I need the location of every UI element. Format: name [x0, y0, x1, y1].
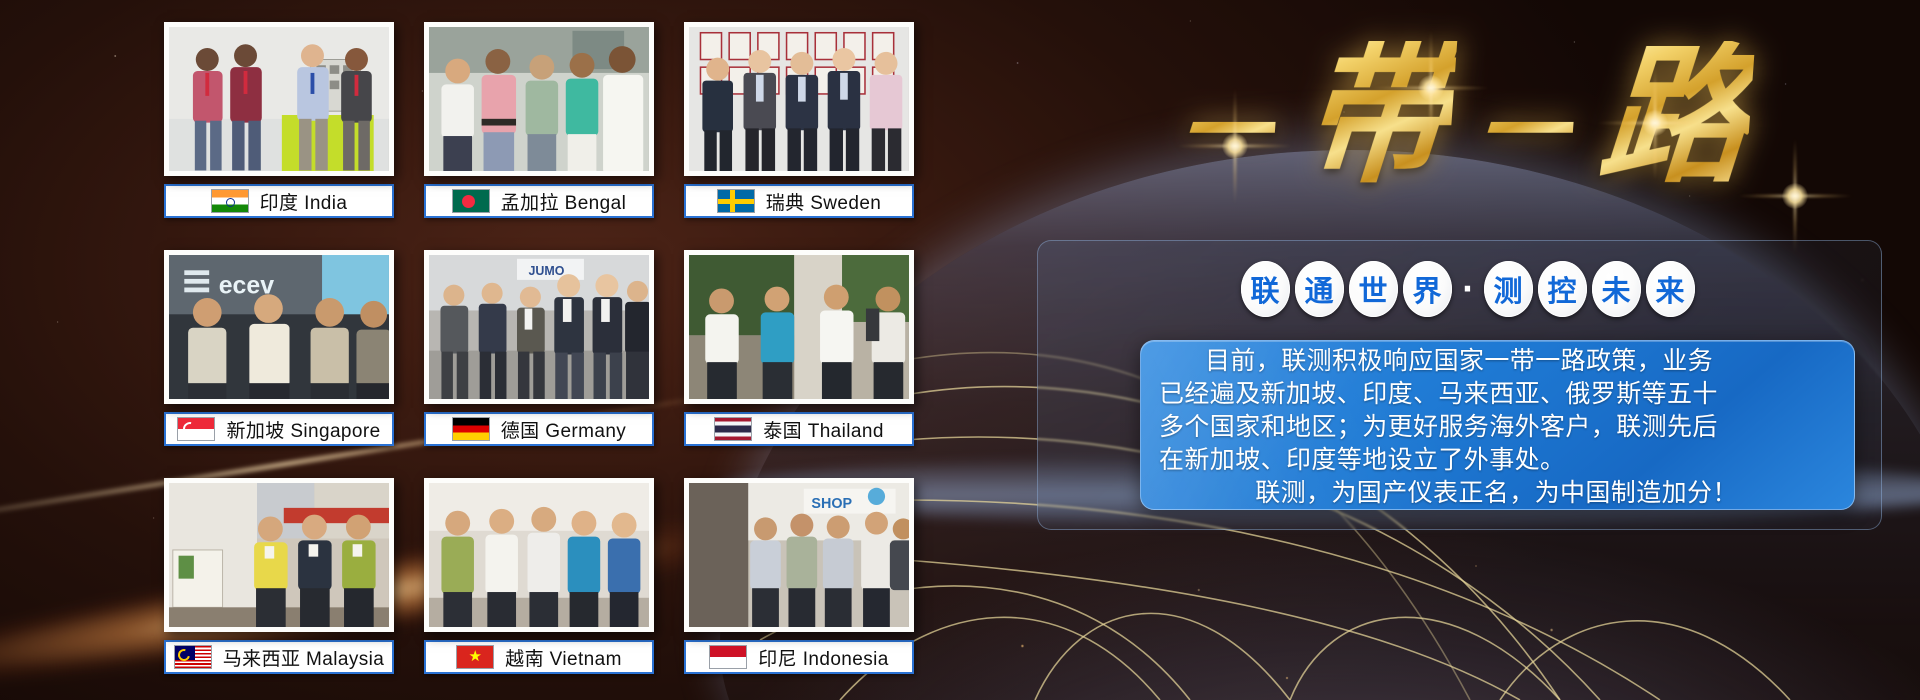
photo-malaysia[interactable] — [164, 478, 394, 632]
title-char-2: 带 — [1297, 41, 1458, 191]
country-label-text: 越南 Vietnam — [505, 644, 622, 671]
info-line-1: 目前，联测积极响应国家一带一路政策，业务 — [1159, 344, 1834, 377]
country-label-singapore[interactable]: 新加坡 Singapore — [164, 412, 394, 446]
photo-sweden[interactable] — [684, 22, 914, 176]
country-label-indonesia[interactable]: 印尼 Indonesia — [684, 640, 914, 674]
country-label-text: 马来西亚 Malaysia — [223, 644, 384, 671]
company-slogan: 联 通 世 界 · 测 控 未 来 — [1015, 258, 1920, 320]
country-label-vietnam[interactable]: 越南 Vietnam — [424, 640, 654, 674]
photo-thailand[interactable] — [684, 250, 914, 404]
photo-singapore[interactable]: ecev — [164, 250, 394, 404]
photo-cell-germany[interactable]: JUMO 德国 Germany — [424, 250, 654, 446]
photo-cell-sweden[interactable]: 瑞典 Sweden — [684, 22, 914, 218]
flag-indonesia-icon — [709, 645, 747, 669]
svg-text:JUMO: JUMO — [528, 264, 564, 278]
flag-vietnam-icon — [456, 645, 494, 669]
banner-root: 印度 India 孟加拉 Bengal — [0, 0, 1920, 700]
photo-image-singapore: ecev — [169, 255, 389, 402]
photo-bengal[interactable] — [424, 22, 654, 176]
photo-india[interactable] — [164, 22, 394, 176]
flag-bangladesh-icon — [452, 189, 490, 213]
belt-and-road-title: 一 带 一 路 — [1035, 8, 1895, 223]
photo-vietnam[interactable] — [424, 478, 654, 632]
photo-cell-singapore[interactable]: ecev 新加坡 Singapore — [164, 250, 394, 446]
photo-cell-india[interactable]: 印度 India — [164, 22, 394, 218]
photo-image-india — [169, 27, 389, 174]
flag-thailand-icon — [714, 417, 752, 441]
photo-image-malaysia — [169, 483, 389, 630]
photo-cell-bengal[interactable]: 孟加拉 Bengal — [424, 22, 654, 218]
country-label-malaysia[interactable]: 马来西亚 Malaysia — [164, 640, 394, 674]
photo-image-bengal — [429, 27, 649, 174]
photo-image-sweden — [689, 27, 909, 174]
company-description-box: 目前，联测积极响应国家一带一路政策，业务 已经遍及新加坡、印度、马来西亚、俄罗斯… — [1140, 340, 1855, 510]
photo-indonesia[interactable]: SHOP — [684, 478, 914, 632]
flag-malaysia-icon — [174, 645, 212, 669]
country-label-text: 新加坡 Singapore — [226, 416, 380, 443]
photo-image-germany: JUMO — [429, 255, 649, 402]
slogan-char-5: 测 — [1484, 261, 1533, 317]
photo-cell-thailand[interactable]: 泰国 Thailand — [684, 250, 914, 446]
slogan-char-4: 界 — [1403, 261, 1452, 317]
slogan-char-6: 控 — [1538, 261, 1587, 317]
photo-germany[interactable]: JUMO — [424, 250, 654, 404]
flag-singapore-icon — [177, 417, 215, 441]
country-label-sweden[interactable]: 瑞典 Sweden — [684, 184, 914, 218]
photo-image-thailand — [689, 255, 909, 402]
country-label-text: 泰国 Thailand — [763, 416, 884, 443]
photo-image-vietnam — [429, 483, 649, 630]
slogan-char-8: 来 — [1646, 261, 1695, 317]
slogan-char-1: 联 — [1241, 261, 1290, 317]
country-label-text: 印尼 Indonesia — [758, 644, 888, 671]
country-label-germany[interactable]: 德国 Germany — [424, 412, 654, 446]
sparkle-icon-far-right — [1735, 136, 1855, 256]
slogan-separator-dot: · — [1457, 261, 1479, 317]
slogan-char-2: 通 — [1295, 261, 1344, 317]
info-line-4: 在新加坡、印度等地设立了外事处。 — [1159, 443, 1834, 476]
flag-sweden-icon — [717, 189, 755, 213]
info-line-5: 联测，为国产仪表正名，为中国制造加分！ — [1159, 476, 1834, 509]
country-label-text: 孟加拉 Bengal — [501, 188, 626, 215]
title-char-3: 一 — [1474, 84, 1577, 180]
flag-germany-icon — [452, 417, 490, 441]
country-label-text: 瑞典 Sweden — [766, 188, 882, 215]
photo-cell-indonesia[interactable]: SHOP 印尼 Indonesia — [684, 478, 914, 674]
country-label-india[interactable]: 印度 India — [164, 184, 394, 218]
photo-cell-malaysia[interactable]: 马来西亚 Malaysia — [164, 478, 394, 674]
svg-text:SHOP: SHOP — [811, 496, 852, 512]
country-label-text: 印度 India — [260, 188, 348, 215]
flag-india-icon — [211, 189, 249, 213]
country-label-thailand[interactable]: 泰国 Thailand — [684, 412, 914, 446]
slogan-char-7: 未 — [1592, 261, 1641, 317]
photo-cell-vietnam[interactable]: 越南 Vietnam — [424, 478, 654, 674]
title-char-4: 路 — [1595, 41, 1756, 191]
photo-image-indonesia: SHOP — [689, 483, 909, 630]
country-label-bengal[interactable]: 孟加拉 Bengal — [424, 184, 654, 218]
info-line-2: 已经遍及新加坡、印度、马来西亚、俄罗斯等五十 — [1159, 377, 1834, 410]
info-line-3: 多个国家和地区；为更好服务海外客户，联测先后 — [1159, 410, 1834, 443]
country-label-text: 德国 Germany — [501, 416, 626, 443]
title-char-1: 一 — [1176, 84, 1279, 180]
country-photo-grid: 印度 India 孟加拉 Bengal — [0, 0, 960, 700]
slogan-char-3: 世 — [1349, 261, 1398, 317]
